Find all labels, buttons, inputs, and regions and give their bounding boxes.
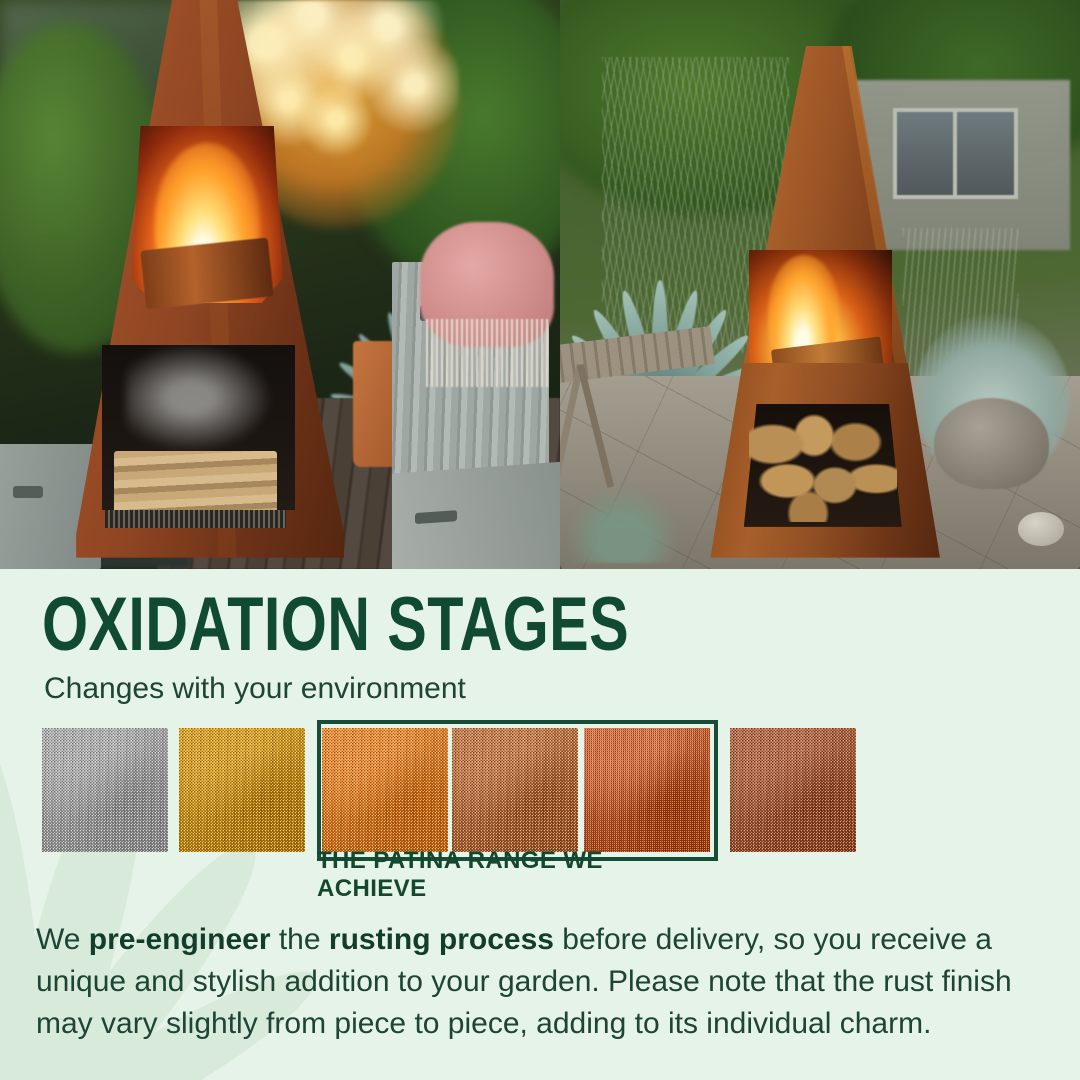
succulent [565,484,679,564]
body-bold-1: pre-engineer [89,923,271,956]
stored-logs [749,414,897,522]
body-paragraph: We pre-engineer the rusting process befo… [36,919,1046,1045]
throw-fringe [426,319,549,387]
body-bold-2: rusting process [329,923,554,956]
smoke [126,345,272,452]
wooden-chair [560,319,716,490]
patina-swatch-golden-oxide [179,728,305,852]
photo-chiminea-lit-deck [0,0,560,569]
patina-swatch-bare-steel [42,728,168,852]
patina-range-label: THE PATINA RANGE WE ACHIEVE [317,851,718,899]
content-panel: OXIDATION STAGES Changes with your envir… [0,569,1080,1080]
body-seg-2: the [271,923,329,956]
stored-logs [114,451,277,516]
photo-chiminea-patio-daylight [560,0,1080,569]
swatch-texture [730,728,856,852]
swatch-texture [179,728,305,852]
grate [105,510,286,528]
patina-range-frame [317,720,718,861]
boulder [934,398,1048,489]
swatch-texture [42,728,168,852]
photo-strip [0,0,1080,569]
infographic-canvas: OXIDATION STAGES Changes with your envir… [0,0,1080,1080]
body-seg-1: We [36,923,89,956]
chair-leg [577,364,614,488]
chiminea-right [706,46,945,558]
chiminea-left [62,0,353,558]
patina-swatch-deep-brown-patina [730,728,856,852]
concrete-bench-right [392,460,560,569]
